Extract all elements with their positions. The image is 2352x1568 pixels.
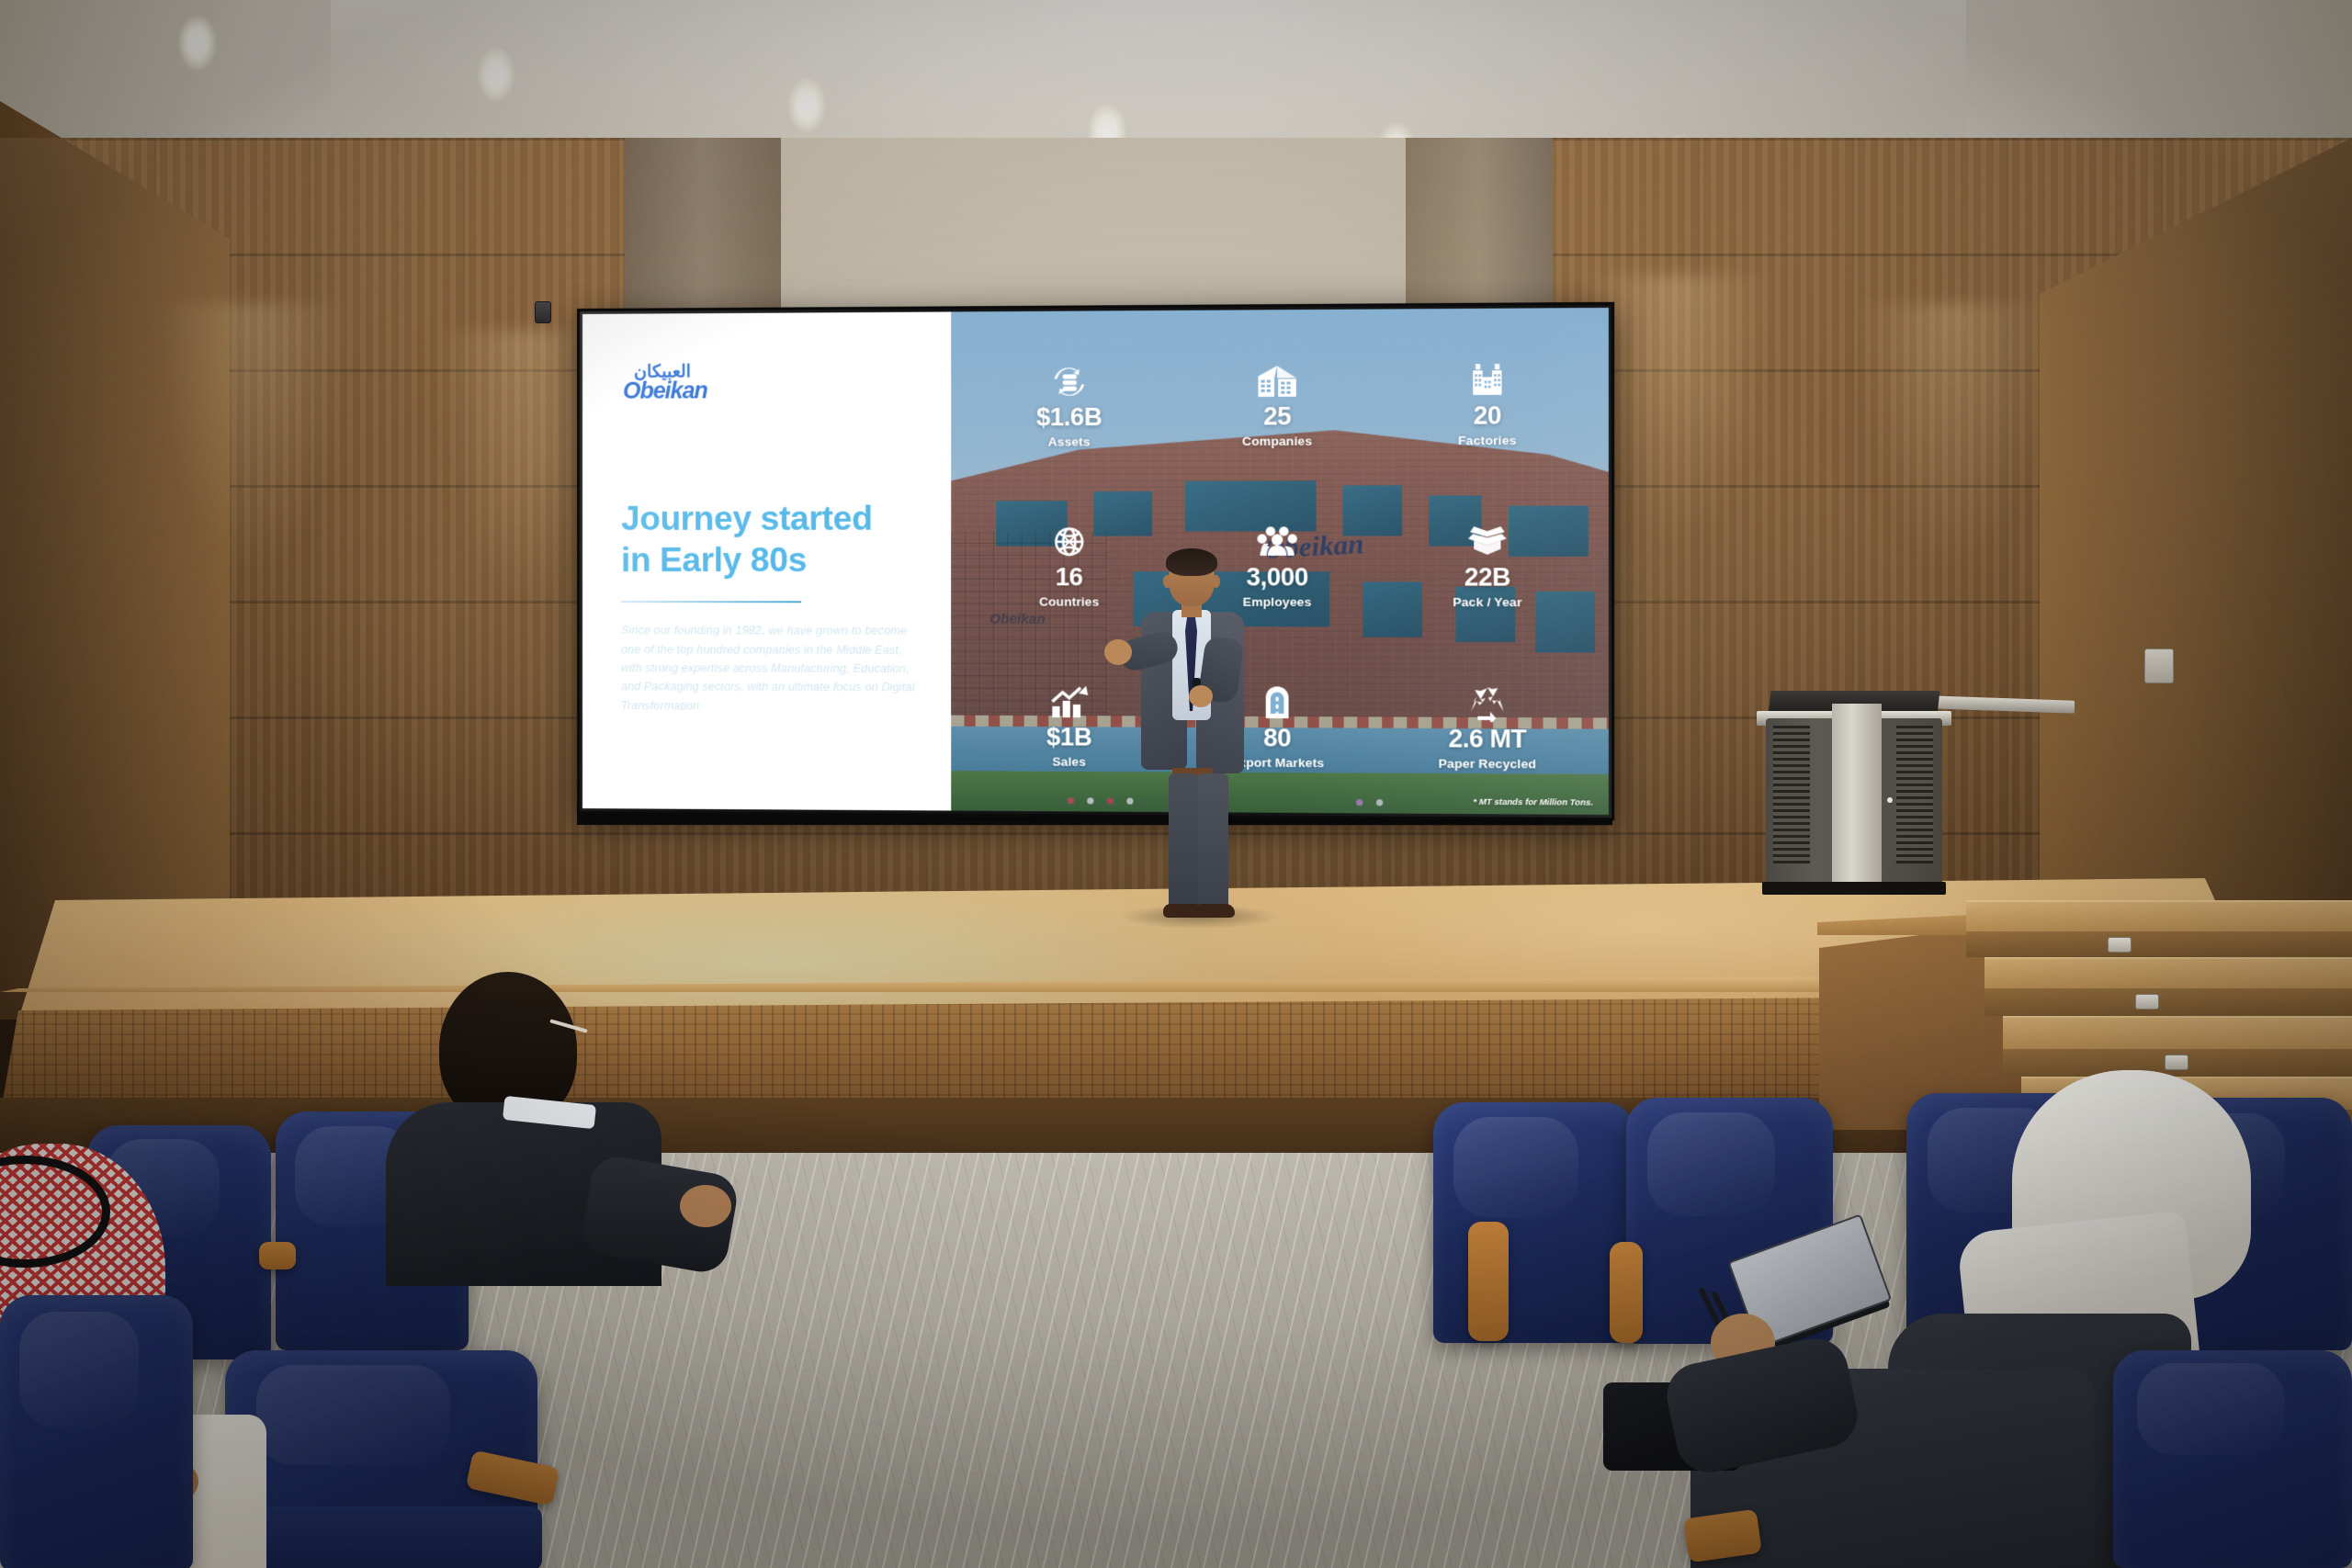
coins-refresh-icon [1049,360,1089,403]
lectern-lock-knob [1887,797,1893,803]
seat-highlight [1453,1117,1578,1218]
presenter-shoe-right [1194,904,1235,918]
stat-pack-per-year: 22B Pack / Year [1382,483,1593,645]
seat-highlight [1647,1112,1776,1216]
slide-title: Journey started in Early 80s [621,497,919,581]
stat-value: 25 [1263,403,1291,429]
auditorium-seat[interactable] [0,1295,193,1568]
stat-value: 22B [1464,565,1510,591]
stat-value: 2.6 MT [1448,726,1526,751]
presentation-screen[interactable]: العبيكان Obeikan Journey started in Earl… [577,302,1614,820]
bar-chart-up-icon [1048,680,1090,723]
slide-right-column: Obeikan Obeikan [951,308,1609,815]
wall-control-plate [2144,649,2174,683]
slide-footnote: * MT stands for Million Tons. [1473,797,1593,807]
slide-title-line-1: Journey started [621,497,919,539]
stat-value: $1B [1046,725,1091,750]
stat-value: $1.6B [1036,404,1102,430]
auditorium-photo: العبيكان Obeikan Journey started in Earl… [0,0,2352,1568]
seat-highlight [19,1312,139,1427]
lectern-base [1762,882,1946,895]
presenter-ear-right [1212,575,1220,588]
stat-paper-recycled: 2.6 MT Paper Recycled [1382,645,1593,807]
stair-step [2003,1016,2352,1051]
ceiling-downlight [788,78,825,131]
stat-value: 3,000 [1246,565,1307,591]
stair-step-light [2135,994,2159,1010]
stat-label: Pack / Year [1453,594,1521,608]
wall-speaker [535,301,551,323]
stair-step [1984,957,2352,990]
globe-grid-icon [1049,520,1089,563]
presenter-hair [1166,548,1217,576]
presenter-speaking [1136,551,1246,919]
stat-value: 80 [1263,726,1291,751]
buildings-icon [1255,359,1299,402]
seat-highlight [256,1365,450,1465]
presenter-hand-left [1104,639,1132,665]
ceiling-downlight [179,17,216,70]
stair-step-light [2165,1055,2188,1070]
presenter-leg-right [1198,773,1228,909]
auditorium-seat[interactable] [2113,1350,2352,1568]
recycle-icon [1466,681,1509,724]
stat-label: Employees [1243,594,1312,608]
stat-value: 16 [1056,565,1083,590]
stat-label: Paper Recycled [1439,756,1537,771]
stat-label: Countries [1039,594,1099,608]
stair-riser [1966,931,2352,957]
obeikan-logo: العبيكان Obeikan [621,357,773,406]
lectern-front-panel [1832,704,1882,895]
statistics-grid: $1.6B Assets [951,308,1609,815]
seat-armrest [259,1242,296,1269]
auditorium-seat[interactable] [1433,1102,1635,1343]
seat-highlight [2137,1363,2285,1455]
stat-label: Companies [1242,434,1312,447]
stat-label: Factories [1458,433,1517,447]
stat-value: 20 [1474,403,1501,429]
slide-title-line-2: in Early 80s [621,539,919,581]
svg-text:Obeikan: Obeikan [623,378,708,403]
stair-step-light [2108,937,2131,953]
stair-riser [1984,988,2352,1016]
stat-assets: $1.6B Assets [966,323,1172,484]
factory-icon [1466,357,1509,400]
slide-left-column: العبيكان Obeikan Journey started in Earl… [582,311,951,810]
road-icon [1259,681,1295,724]
seat-armrest [1610,1242,1643,1343]
stat-label: Assets [1048,434,1091,448]
presenter-leg-left [1169,773,1198,909]
lectern-vent-left [1773,726,1810,863]
presenter-hand-right [1189,685,1213,707]
seat-armrest [1468,1222,1509,1341]
ceiling-downlight [478,48,514,101]
stair-step [1966,900,2352,933]
attendee-hand [680,1185,731,1227]
stat-companies: 25 Companies [1173,322,1383,484]
stat-label: Sales [1052,754,1086,768]
people-group-icon [1254,520,1300,563]
stat-factories: 20 Factories [1382,321,1593,483]
presenter-ear-left [1163,575,1171,588]
lectern-vent-right [1896,726,1933,863]
av-lectern[interactable] [1757,685,1951,895]
slide-body-text: Since our founding in 1982, we have grow… [621,621,919,716]
open-box-icon [1465,519,1510,562]
title-divider [621,601,801,603]
slide: العبيكان Obeikan Journey started in Earl… [582,308,1609,815]
